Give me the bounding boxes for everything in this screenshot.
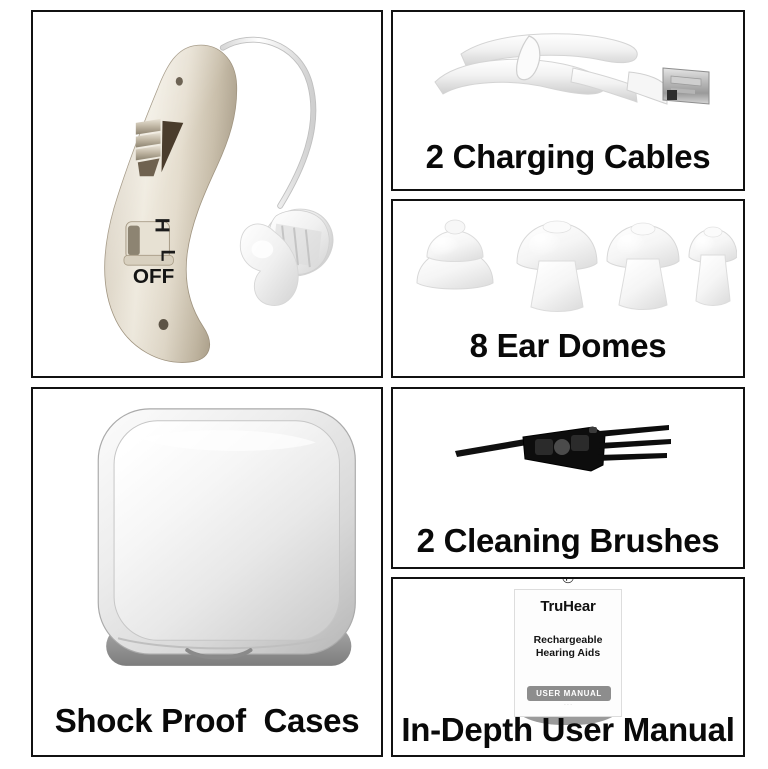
label-volume-low: L — [157, 249, 179, 261]
handle-notch-left — [535, 439, 553, 455]
panel-user-manual: ℗ TruHear Rechargeable Hearing Aids USER… — [391, 577, 745, 757]
manual-cover: ℗ TruHear Rechargeable Hearing Aids USER… — [514, 589, 622, 717]
label-power-off: OFF — [133, 265, 175, 288]
manual-subtitle-line-1: Rechargeable — [534, 634, 603, 646]
usb-connector — [663, 68, 709, 104]
handle-notch-right — [571, 435, 589, 451]
sound-tube — [223, 40, 314, 206]
shell-shading — [105, 45, 237, 362]
truhear-logo-icon: ℗ — [515, 577, 621, 588]
manual-badge: USER MANUAL — [527, 686, 611, 701]
hearing-aid-illustration: H L OFF — [33, 12, 381, 376]
manual-product-subtitle: Rechargeable Hearing Aids — [515, 634, 621, 660]
label-volume-high: H — [151, 218, 174, 233]
handle-hole — [554, 439, 570, 455]
caption-charging-cables: 2 Charging Cables — [393, 140, 743, 173]
panel-hearing-aid: H L OFF — [31, 10, 383, 378]
ear-dome-1 — [417, 220, 493, 289]
caption-shock-proof-cases: Shock Proof Cases — [33, 704, 381, 737]
storage-case-illustration — [33, 389, 381, 755]
caption-user-manual: In-Depth User Manual — [393, 713, 743, 746]
ear-dome-2 — [517, 221, 597, 312]
ear-dome-3 — [607, 223, 679, 310]
bristle-1 — [599, 425, 669, 437]
charging-cable-illustration — [423, 24, 713, 124]
ear-domes-illustration — [401, 211, 737, 323]
panel-cleaning-brushes: 2 Cleaning Brushes — [391, 387, 745, 569]
ear-tip-assembly — [240, 197, 344, 306]
ear-dome-4 — [689, 227, 737, 306]
accessory-infographic: H L OFF — [0, 0, 768, 769]
caption-ear-domes: 8 Ear Domes — [393, 329, 743, 362]
panel-charging-cables: 2 Charging Cables — [391, 10, 745, 191]
case-lid — [114, 421, 339, 640]
microphone-port-top — [176, 77, 183, 86]
bristle-3 — [597, 453, 667, 461]
panel-ear-domes: 8 Ear Domes — [391, 199, 745, 378]
bristle-2 — [599, 439, 671, 449]
manual-brand-name: TruHear — [515, 598, 621, 615]
panel-shock-proof-cases: Shock Proof Cases — [31, 387, 383, 757]
cleaning-brush-illustration — [453, 415, 673, 490]
manual-subtitle-line-2: Hearing Aids — [536, 647, 600, 659]
wire-pick — [455, 439, 527, 457]
manual-footnote: · · · — [515, 702, 621, 708]
caption-cleaning-brushes: 2 Cleaning Brushes — [393, 524, 743, 557]
handle-tab — [589, 427, 597, 433]
microphone-port-bottom — [159, 319, 169, 330]
